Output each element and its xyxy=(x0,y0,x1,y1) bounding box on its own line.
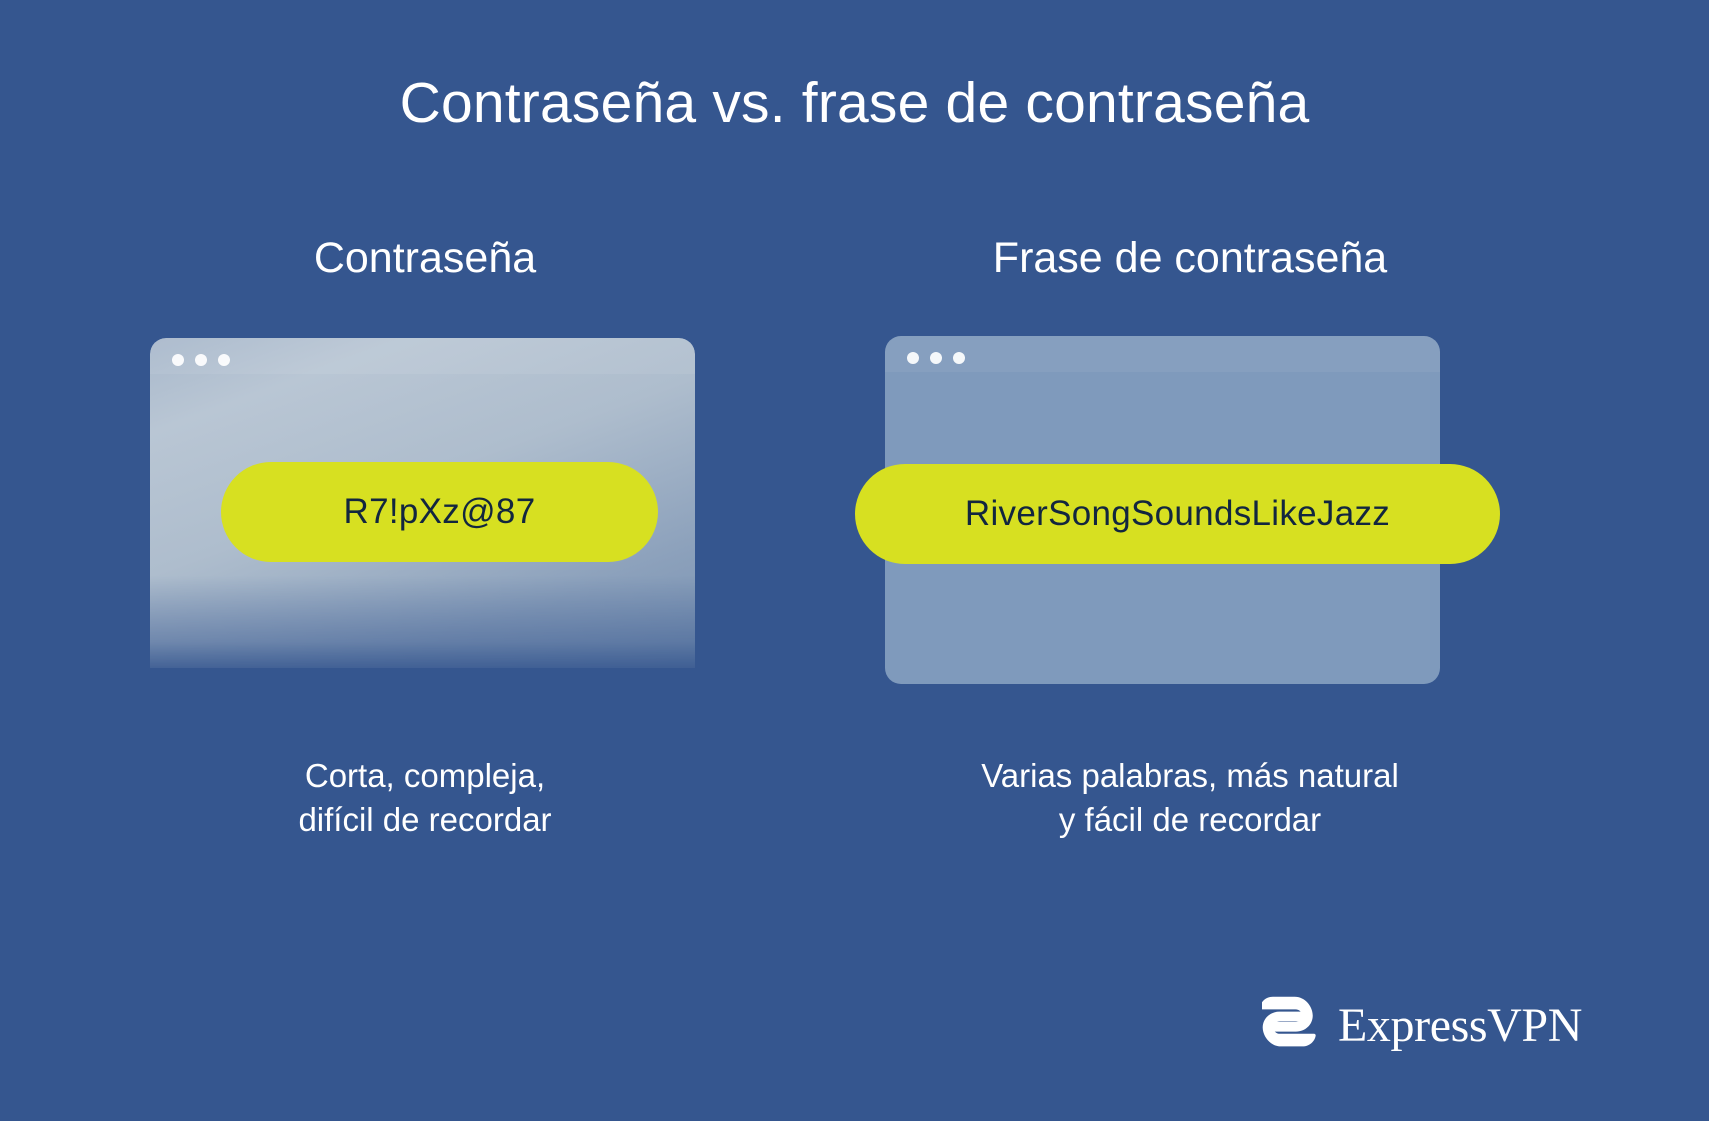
comparison-column-passphrase: Frase de contraseña RiverSongSoundsLikeJ… xyxy=(840,0,1540,1121)
window-traffic-lights xyxy=(172,354,230,366)
password-value-pill: R7!pXz@87 xyxy=(221,462,658,562)
column-caption-passphrase: Varias palabras, más natural y fácil de … xyxy=(840,754,1540,842)
expressvpn-e-logo-icon xyxy=(1262,995,1322,1057)
infographic-canvas: Contraseña vs. frase de contraseña Contr… xyxy=(0,0,1709,1121)
window-traffic-lights xyxy=(907,352,965,364)
column-heading-passphrase: Frase de contraseña xyxy=(840,234,1540,283)
comparison-column-password: Contraseña R7!pXz@87 Corta, compleja, di… xyxy=(95,0,755,1121)
passphrase-value-pill: RiverSongSoundsLikeJazz xyxy=(855,464,1500,564)
column-caption-password: Corta, compleja, difícil de recordar xyxy=(95,754,755,842)
caption-line-2: y fácil de recordar xyxy=(840,798,1540,842)
window-chrome-bar xyxy=(885,336,1440,372)
caption-line-1: Corta, compleja, xyxy=(95,754,755,798)
brand-name: ExpressVPN xyxy=(1338,1002,1582,1050)
window-dot-minimize-icon xyxy=(930,352,942,364)
window-dot-maximize-icon xyxy=(218,354,230,366)
column-heading-password: Contraseña xyxy=(95,234,755,283)
caption-line-1: Varias palabras, más natural xyxy=(840,754,1540,798)
window-chrome-bar xyxy=(150,338,695,374)
window-dot-close-icon xyxy=(907,352,919,364)
window-dot-maximize-icon xyxy=(953,352,965,364)
brand-logo: ExpressVPN xyxy=(1262,995,1582,1057)
window-dot-close-icon xyxy=(172,354,184,366)
caption-line-2: difícil de recordar xyxy=(95,798,755,842)
window-dot-minimize-icon xyxy=(195,354,207,366)
